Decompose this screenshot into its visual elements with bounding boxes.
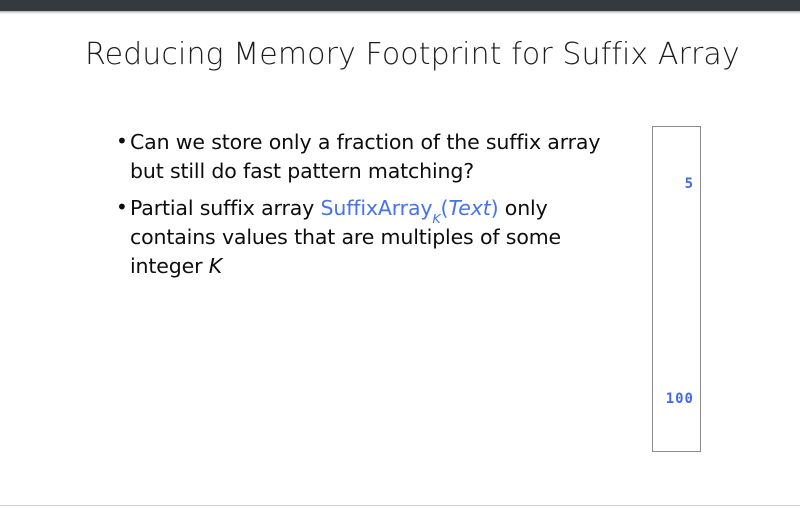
slide-canvas: Reducing Memory Footprint for Suffix Arr…: [0, 14, 800, 505]
partial-suffix-array-box: 5 100: [652, 126, 701, 452]
page-bottom-divider: [0, 505, 800, 506]
term-suffixarray: SuffixArray: [321, 196, 433, 220]
array-cell-value-bottom: 100: [656, 390, 694, 408]
bullet-text-2-lead: Partial suffix array: [130, 196, 321, 220]
bullet-point-icon: •: [116, 193, 128, 222]
term-suffixarray-subscript-k: K: [432, 211, 440, 226]
array-cell-value-top: 5: [685, 175, 694, 193]
list-item: • Can we store only a fraction of the su…: [116, 128, 626, 186]
bullet-point-icon: •: [116, 127, 128, 156]
term-text-argument: Text: [448, 196, 490, 220]
bullet-text-1: Can we store only a fraction of the suff…: [130, 130, 600, 183]
list-item: •Partial suffix array SuffixArrayK(Text)…: [116, 194, 626, 281]
term-integer-k: K: [209, 254, 222, 278]
page-title: Reducing Memory Footprint for Suffix Arr…: [85, 37, 740, 72]
window-chrome-bar: [0, 0, 800, 11]
slide-bullet-list: • Can we store only a fraction of the su…: [116, 128, 626, 281]
